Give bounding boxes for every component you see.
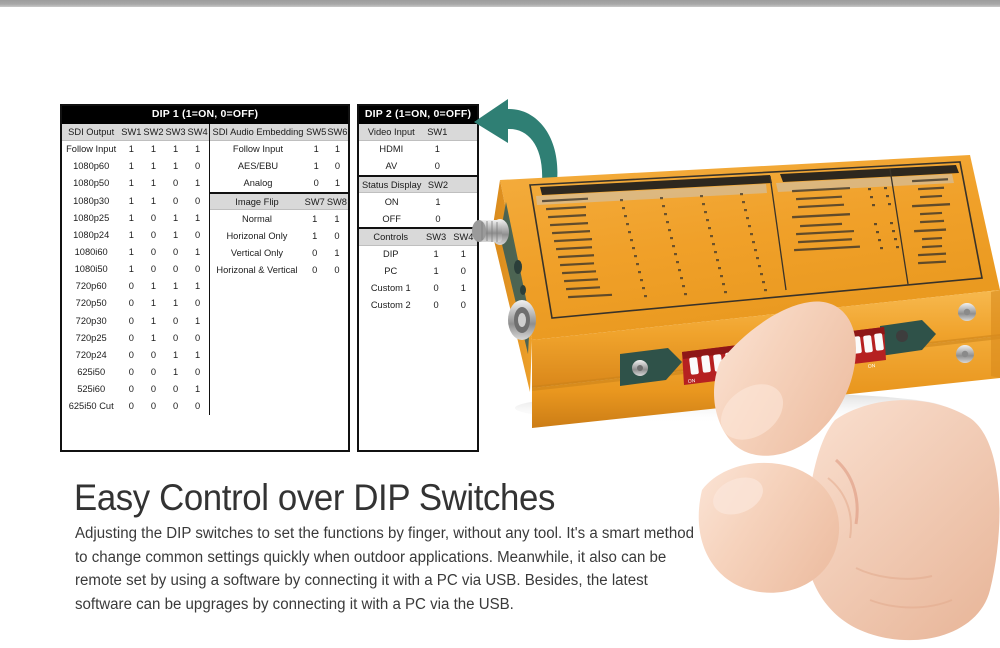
switch-value: 0 <box>120 381 142 398</box>
switch-value: 0 <box>187 363 209 380</box>
row-label: 625i50 Cut <box>62 398 120 415</box>
switch-value: 1 <box>120 261 142 278</box>
switch-value: 1 <box>142 192 164 209</box>
switch-value: 1 <box>142 329 164 346</box>
row-label: Analog <box>210 175 305 192</box>
table-spacer-row <box>210 295 218 312</box>
row-label: 720p24 <box>62 346 120 363</box>
table-row: Follow Input11 <box>210 141 348 158</box>
switch-value: 1 <box>306 141 327 158</box>
table-row: 1080p241010 <box>62 226 209 243</box>
switch-value: 1 <box>304 210 326 227</box>
row-label: Follow Input <box>62 141 120 158</box>
switch-value: 1 <box>187 175 209 192</box>
top-gray-bar <box>0 0 1000 7</box>
switch-value: 1 <box>142 175 164 192</box>
row-label: ON <box>359 193 424 210</box>
dip1-right-filler <box>210 278 218 415</box>
table-spacer-row <box>359 382 367 399</box>
table-row: OFF0 <box>359 210 477 227</box>
col-header-sw4: SW4 <box>187 124 209 141</box>
table-row: AV0 <box>359 158 477 175</box>
row-label: 1080p25 <box>62 209 120 226</box>
table-row: 1080p301100 <box>62 192 209 209</box>
switch-value: 1 <box>187 312 209 329</box>
switch-value: 1 <box>165 295 187 312</box>
switch-value: 0 <box>165 312 187 329</box>
side-slot <box>520 285 526 295</box>
table-row: Horizonal & Vertical00 <box>210 261 348 278</box>
switch-value: 0 <box>142 363 164 380</box>
dip2-filler-body <box>359 314 367 451</box>
table-spacer-row <box>210 381 218 398</box>
switch-value: 1 <box>187 278 209 295</box>
switch-value: 0 <box>120 363 142 380</box>
switch-value: 1 <box>165 363 187 380</box>
table-spacer-row <box>359 331 367 348</box>
thumb <box>699 463 839 593</box>
table-row: 525i600001 <box>62 381 209 398</box>
col-header-sw2: SW2 <box>142 124 164 141</box>
spacer-cell <box>216 278 219 295</box>
table-spacer-row <box>210 313 218 330</box>
table-spacer-row <box>210 398 218 415</box>
spacer-cell <box>216 381 219 398</box>
switch-value: 1 <box>120 243 142 260</box>
switch-value: 0 <box>165 398 187 415</box>
table-row: Horizonal Only10 <box>210 227 348 244</box>
switch-value: 0 <box>187 261 209 278</box>
table-row: 1080i601001 <box>62 243 209 260</box>
table-row: 720p250100 <box>62 329 209 346</box>
side-slot <box>514 260 522 274</box>
switch-value: 1 <box>120 141 142 158</box>
col-header-sw1: SW1 <box>120 124 142 141</box>
row-label: HDMI <box>359 141 424 158</box>
dip2-controls-table: Controls SW3 SW4 DIP11PC10Custom 101Cust… <box>359 227 477 313</box>
col-header-sw3: SW3 <box>422 228 449 245</box>
table-row: Custom 101 <box>359 279 477 296</box>
row-label: AV <box>359 158 424 175</box>
dip1-sdi-output-body: Follow Input11111080p6011101080p50110110… <box>62 141 209 415</box>
bnc-connector-bottom <box>508 300 536 340</box>
table-header-row: Video Input SW1 <box>359 124 477 141</box>
switch-value: 1 <box>165 158 187 175</box>
switch-value: 1 <box>422 245 449 262</box>
row-label: 1080i60 <box>62 243 120 260</box>
row-label: OFF <box>359 210 424 227</box>
row-label: 1080p50 <box>62 175 120 192</box>
dip2-title: DIP 2 (1=ON, 0=OFF) <box>359 106 477 124</box>
dip2-controls-body: DIP11PC10Custom 101Custom 200 <box>359 245 477 313</box>
page-root: DIP 1 (1=ON, 0=OFF) SDI Output SW1 SW2 S… <box>0 0 1000 648</box>
switch-value: 0 <box>142 226 164 243</box>
row-label: Custom 1 <box>359 279 422 296</box>
switch-value: 0 <box>120 329 142 346</box>
row-label: Normal <box>210 210 303 227</box>
dip-reference-tables: DIP 1 (1=ON, 0=OFF) SDI Output SW1 SW2 S… <box>60 104 479 452</box>
dip1-image-flip-table: Image Flip SW7 SW8 Normal11Horizonal Onl… <box>210 192 348 278</box>
row-label: 720p30 <box>62 312 120 329</box>
spacer-cell <box>364 433 367 450</box>
table-spacer-row <box>359 399 367 416</box>
spacer-cell <box>364 382 367 399</box>
table-row: AES/EBU10 <box>210 158 348 175</box>
table-header-row: Controls SW3 SW4 <box>359 228 477 245</box>
row-label: AES/EBU <box>210 158 305 175</box>
dip1-sdi-output-table: SDI Output SW1 SW2 SW3 SW4 Follow Input1… <box>62 124 209 416</box>
dip1-table: DIP 1 (1=ON, 0=OFF) SDI Output SW1 SW2 S… <box>60 104 350 452</box>
table-spacer-row <box>359 348 367 365</box>
switch-value: 0 <box>187 295 209 312</box>
switch-value: 0 <box>120 312 142 329</box>
table-row: Vertical Only01 <box>210 244 348 261</box>
table-row: 625i50 Cut0000 <box>62 398 209 415</box>
switch-value: 0 <box>187 192 209 209</box>
row-label: Follow Input <box>210 141 305 158</box>
switch-value: 0 <box>165 381 187 398</box>
switch-value: 1 <box>422 262 449 279</box>
row-label: Custom 2 <box>359 296 422 313</box>
switch-value: 0 <box>120 346 142 363</box>
switch-value: 0 <box>142 209 164 226</box>
spacer-cell <box>364 348 367 365</box>
col-header-sdi-output: SDI Output <box>62 124 120 141</box>
switch-value: 0 <box>187 158 209 175</box>
col-header-video-input: Video Input <box>359 124 424 141</box>
table-row: 1080p601110 <box>62 158 209 175</box>
table-header-row: Image Flip SW7 SW8 <box>210 193 348 210</box>
row-label: 625i50 <box>62 363 120 380</box>
switch-value: 1 <box>187 209 209 226</box>
table-row: 1080i501000 <box>62 261 209 278</box>
spacer-cell <box>364 365 367 382</box>
switch-value: 0 <box>422 296 449 313</box>
table-header-row: SDI Output SW1 SW2 SW3 SW4 <box>62 124 209 141</box>
dip2-video-input-body: HDMI1AV0 <box>359 141 477 175</box>
spacer-cell <box>364 314 367 331</box>
spacer-cell <box>216 330 219 347</box>
switch-value: 1 <box>120 158 142 175</box>
switch-value: 0 <box>187 398 209 415</box>
table-header-row: SDI Audio Embedding SW5 SW6 <box>210 124 348 141</box>
col-header-sw3: SW3 <box>165 124 187 141</box>
spacer-cell <box>216 295 219 312</box>
table-row: 720p300101 <box>62 312 209 329</box>
row-label: 720p60 <box>62 278 120 295</box>
dip2-table: DIP 2 (1=ON, 0=OFF) Video Input SW1 HDMI… <box>357 104 479 452</box>
switch-value: 1 <box>326 210 348 227</box>
switch-value: 1 <box>424 193 451 210</box>
table-spacer-row <box>359 433 367 450</box>
table-spacer-row <box>210 330 218 347</box>
bnc-connector-top <box>472 219 509 245</box>
switch-value: 0 <box>142 243 164 260</box>
switch-value: 0 <box>422 279 449 296</box>
switch-value: 1 <box>165 141 187 158</box>
dip2-status-display-body: ON1OFF0 <box>359 193 477 227</box>
dip2-status-display-table: Status Display SW2 ON1OFF0 <box>359 175 477 227</box>
col-header-sw2: SW2 <box>424 176 451 193</box>
switch-value: 1 <box>120 226 142 243</box>
table-spacer-row <box>359 365 367 382</box>
row-label: 720p25 <box>62 329 120 346</box>
spacer-cell <box>364 331 367 348</box>
table-spacer-row <box>359 314 367 331</box>
table-row: Analog01 <box>210 175 348 192</box>
row-label: 720p50 <box>62 295 120 312</box>
hand-pointing <box>660 300 1000 648</box>
switch-value: 1 <box>142 158 164 175</box>
col-header-sdi-audio-embedding: SDI Audio Embedding <box>210 124 305 141</box>
switch-value: 0 <box>165 192 187 209</box>
switch-value: 1 <box>142 141 164 158</box>
switch-value: 0 <box>326 261 348 278</box>
switch-value: 0 <box>142 398 164 415</box>
row-label: 1080i50 <box>62 261 120 278</box>
switch-value: 1 <box>187 141 209 158</box>
col-header-image-flip: Image Flip <box>210 193 303 210</box>
table-row: ON1 <box>359 193 477 210</box>
body-paragraph: Adjusting the DIP switches to set the fu… <box>75 522 705 616</box>
switch-value: 0 <box>142 381 164 398</box>
table-spacer-row <box>210 278 218 295</box>
table-row: 1080p251011 <box>62 209 209 226</box>
table-row: 625i500010 <box>62 363 209 380</box>
col-header-sw5: SW5 <box>306 124 327 141</box>
switch-value: 0 <box>120 295 142 312</box>
switch-value: 0 <box>165 261 187 278</box>
col-header-sw6: SW6 <box>327 124 348 141</box>
table-row: PC10 <box>359 262 477 279</box>
switch-value: 1 <box>165 346 187 363</box>
row-label: Vertical Only <box>210 244 303 261</box>
table-row: DIP11 <box>359 245 477 262</box>
switch-value: 1 <box>120 192 142 209</box>
switch-value: 1 <box>306 158 327 175</box>
switch-value: 0 <box>424 158 451 175</box>
page-title: Easy Control over DIP Switches <box>74 477 555 519</box>
row-label: 1080p60 <box>62 158 120 175</box>
switch-value: 0 <box>165 175 187 192</box>
switch-value: 1 <box>165 226 187 243</box>
table-row: Custom 200 <box>359 296 477 313</box>
switch-value: 0 <box>304 244 326 261</box>
dip2-video-input-table: Video Input SW1 HDMI1AV0 <box>359 124 477 175</box>
row-label: Horizonal & Vertical <box>210 261 303 278</box>
dip1-audio-embedding-table: SDI Audio Embedding SW5 SW6 Follow Input… <box>210 124 348 192</box>
switch-value: 1 <box>120 175 142 192</box>
table-spacer-row <box>210 364 218 381</box>
switch-value: 1 <box>187 243 209 260</box>
dip1-audio-embedding-body: Follow Input11AES/EBU10Analog01 <box>210 141 348 192</box>
switch-value: 0 <box>187 226 209 243</box>
dip1-image-flip-body: Normal11Horizonal Only10Vertical Only01H… <box>210 210 348 278</box>
table-row: HDMI1 <box>359 141 477 158</box>
switch-value: 0 <box>142 261 164 278</box>
spacer-cell <box>216 313 219 330</box>
switch-value: 1 <box>142 295 164 312</box>
table-row: 1080p501101 <box>62 175 209 192</box>
switch-value: 1 <box>327 141 348 158</box>
spacer-cell <box>364 416 367 433</box>
switch-value: 1 <box>142 278 164 295</box>
row-label: 525i60 <box>62 381 120 398</box>
spacer-cell <box>216 364 219 381</box>
dip1-title: DIP 1 (1=ON, 0=OFF) <box>62 106 348 124</box>
dip2-filler <box>359 314 367 451</box>
table-spacer-row <box>359 416 367 433</box>
switch-value: 1 <box>120 209 142 226</box>
switch-value: 1 <box>165 209 187 226</box>
switch-value: 1 <box>142 312 164 329</box>
switch-value: 0 <box>306 175 327 192</box>
col-header-sw1: SW1 <box>424 124 451 141</box>
spacer-cell <box>364 399 367 416</box>
table-row: 720p240011 <box>62 346 209 363</box>
table-spacer-row <box>210 347 218 364</box>
col-header-controls: Controls <box>359 228 422 245</box>
table-row: 720p500110 <box>62 295 209 312</box>
switch-value: 0 <box>327 158 348 175</box>
switch-value: 0 <box>424 210 451 227</box>
table-row: Normal11 <box>210 210 348 227</box>
row-label: DIP <box>359 245 422 262</box>
row-label: 1080p24 <box>62 226 120 243</box>
switch-value: 1 <box>326 244 348 261</box>
switch-value: 1 <box>327 175 348 192</box>
table-header-row: Status Display SW2 <box>359 176 477 193</box>
col-header-status-display: Status Display <box>359 176 424 193</box>
switch-value: 1 <box>304 227 326 244</box>
row-label: 1080p30 <box>62 192 120 209</box>
switch-value: 0 <box>304 261 326 278</box>
switch-value: 0 <box>187 329 209 346</box>
row-label: PC <box>359 262 422 279</box>
switch-value: 0 <box>165 243 187 260</box>
spacer-cell <box>216 398 219 415</box>
row-label: Horizonal Only <box>210 227 303 244</box>
switch-value: 0 <box>142 346 164 363</box>
col-header-sw7: SW7 <box>304 193 326 210</box>
switch-value: 1 <box>424 141 451 158</box>
switch-value: 0 <box>120 398 142 415</box>
spacer-cell <box>216 347 219 364</box>
switch-value: 0 <box>326 227 348 244</box>
table-row: 720p600111 <box>62 278 209 295</box>
dip1-right-column: SDI Audio Embedding SW5 SW6 Follow Input… <box>210 124 348 416</box>
switch-value: 0 <box>120 278 142 295</box>
switch-value: 1 <box>165 278 187 295</box>
switch-value: 0 <box>165 329 187 346</box>
switch-value: 1 <box>187 346 209 363</box>
switch-value: 1 <box>187 381 209 398</box>
dip1-right-filler-body <box>210 278 218 415</box>
col-header-sw8: SW8 <box>326 193 348 210</box>
table-row: Follow Input1111 <box>62 141 209 158</box>
